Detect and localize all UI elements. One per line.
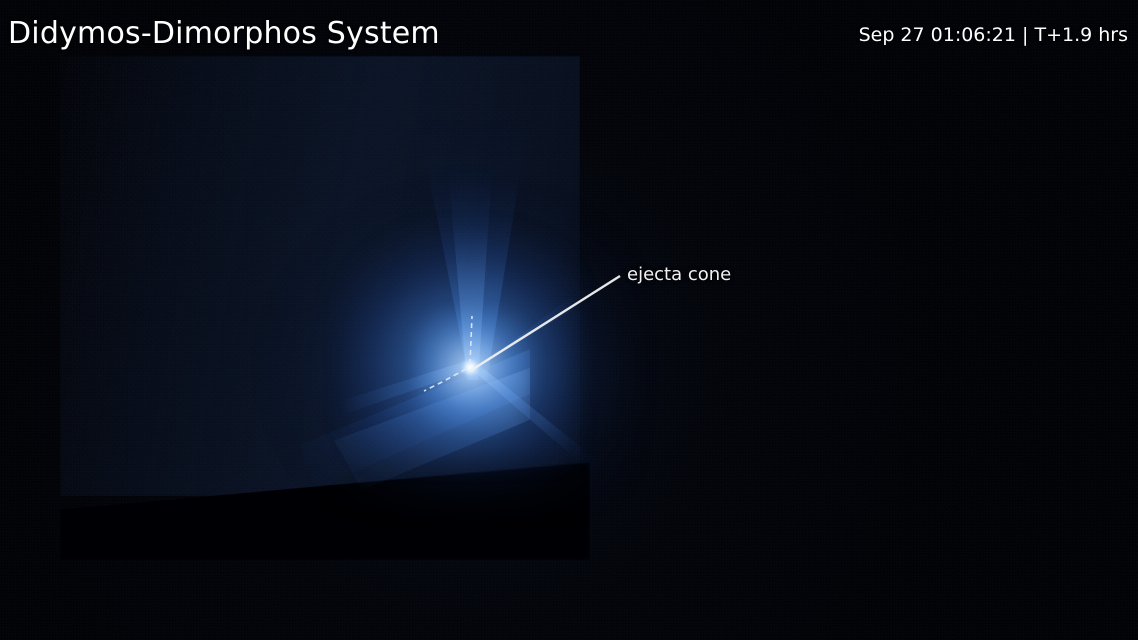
timestamp-readout: Sep 27 01:06:21 | T+1.9 hrs xyxy=(859,24,1128,46)
annotation-label-ejecta-cone: ejecta cone xyxy=(627,264,731,285)
page-title: Didymos-Dimorphos System xyxy=(8,16,440,51)
detector-frame-noise xyxy=(60,56,580,496)
image-canvas: Didymos-Dimorphos System Sep 27 01:06:21… xyxy=(0,0,1138,640)
